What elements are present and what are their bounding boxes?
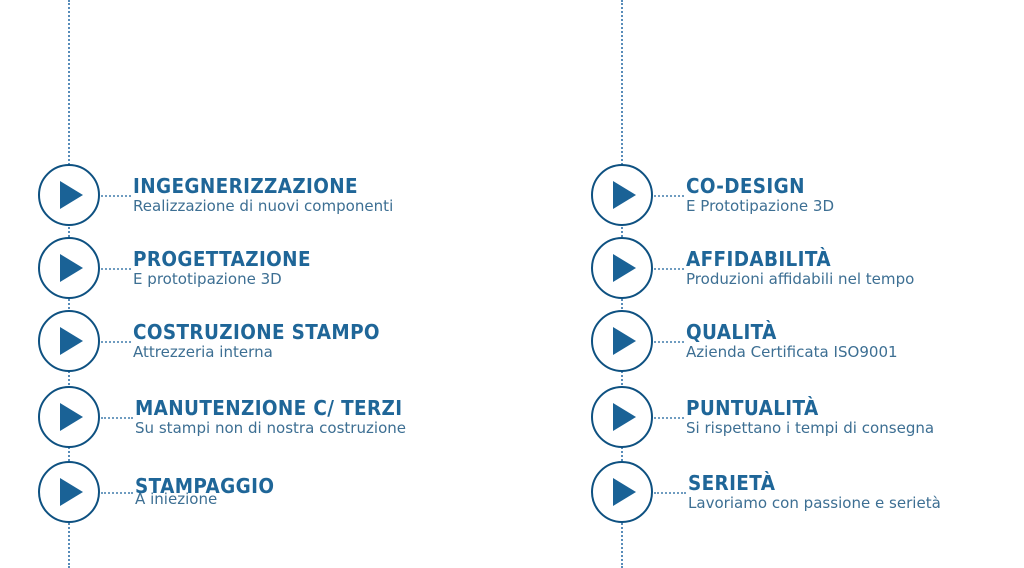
list-item-labels: INGEGNERIZZAZIONERealizzazione di nuovi … bbox=[133, 164, 401, 226]
play-triangle-icon bbox=[613, 478, 636, 506]
list-item-subtitle: Azienda Certificata ISO9001 bbox=[686, 344, 898, 360]
play-circle-icon[interactable] bbox=[38, 386, 100, 448]
play-circle-icon[interactable] bbox=[591, 164, 653, 226]
list-item-title: COSTRUZIONE STAMPO bbox=[133, 322, 380, 342]
play-triangle-icon bbox=[60, 403, 83, 431]
services-column: INGEGNERIZZAZIONERealizzazione di nuovi … bbox=[0, 0, 512, 568]
list-item-subtitle: E prototipazione 3D bbox=[133, 271, 321, 287]
list-item-labels: SERIETÀLavoriamo con passione e serietà bbox=[688, 461, 949, 523]
play-triangle-icon bbox=[613, 403, 636, 431]
list-item-labels: COSTRUZIONE STAMPOAttrezzeria interna bbox=[133, 310, 401, 372]
dotted-connector bbox=[101, 195, 131, 197]
list-item-title: CO-DESIGN bbox=[686, 176, 826, 196]
play-triangle-icon bbox=[613, 327, 636, 355]
dotted-connector bbox=[101, 341, 131, 343]
dotted-connector bbox=[101, 417, 133, 419]
list-item-labels: STAMPAGGIOA iniezione bbox=[135, 461, 286, 523]
list-item-subtitle: A iniezione bbox=[135, 491, 282, 507]
play-triangle-icon bbox=[60, 327, 83, 355]
list-item-labels: CO-DESIGNE Prototipazione 3D bbox=[686, 164, 839, 226]
play-triangle-icon bbox=[613, 181, 636, 209]
list-item[interactable]: STAMPAGGIOA iniezione bbox=[0, 461, 512, 523]
list-item-subtitle: Si rispettano i tempi di consegna bbox=[686, 420, 934, 436]
list-item-subtitle: E Prototipazione 3D bbox=[686, 198, 834, 214]
list-item-subtitle: Su stampi non di nostra costruzione bbox=[135, 420, 417, 436]
list-item-subtitle: Produzioni affidabili nel tempo bbox=[686, 271, 914, 287]
dotted-connector bbox=[101, 268, 131, 270]
list-item[interactable]: PROGETTAZIONEE prototipazione 3D bbox=[0, 237, 512, 299]
play-circle-icon[interactable] bbox=[38, 461, 100, 523]
list-item-title: QUALITÀ bbox=[686, 322, 887, 342]
list-item-title: MANUTENZIONE C/ TERZI bbox=[135, 398, 402, 418]
dotted-connector bbox=[101, 492, 133, 494]
list-item[interactable]: CO-DESIGNE Prototipazione 3D bbox=[553, 164, 1024, 226]
list-item-labels: PUNTUALITÀSi rispettano i tempi di conse… bbox=[686, 386, 942, 448]
list-item-title: AFFIDABILITÀ bbox=[686, 249, 903, 269]
dotted-connector bbox=[654, 195, 684, 197]
list-item[interactable]: COSTRUZIONE STAMPOAttrezzeria interna bbox=[0, 310, 512, 372]
play-triangle-icon bbox=[60, 478, 83, 506]
play-circle-icon[interactable] bbox=[591, 237, 653, 299]
list-item[interactable]: QUALITÀAzienda Certificata ISO9001 bbox=[553, 310, 1024, 372]
dotted-connector bbox=[654, 268, 684, 270]
list-item-title: SERIETÀ bbox=[688, 473, 928, 493]
list-item-title: PROGETTAZIONE bbox=[133, 249, 311, 269]
list-item[interactable]: INGEGNERIZZAZIONERealizzazione di nuovi … bbox=[0, 164, 512, 226]
list-item[interactable]: SERIETÀLavoriamo con passione e serietà bbox=[553, 461, 1024, 523]
play-circle-icon[interactable] bbox=[38, 310, 100, 372]
play-triangle-icon bbox=[613, 254, 636, 282]
list-item-subtitle: Attrezzeria interna bbox=[133, 344, 393, 360]
list-item[interactable]: PUNTUALITÀSi rispettano i tempi di conse… bbox=[553, 386, 1024, 448]
play-circle-icon[interactable] bbox=[38, 164, 100, 226]
list-item-title: INGEGNERIZZAZIONE bbox=[133, 176, 380, 196]
play-circle-icon[interactable] bbox=[591, 461, 653, 523]
list-item-labels: AFFIDABILITÀProduzioni affidabili nel te… bbox=[686, 237, 921, 299]
list-item-labels: PROGETTAZIONEE prototipazione 3D bbox=[133, 237, 326, 299]
list-item[interactable]: MANUTENZIONE C/ TERZISu stampi non di no… bbox=[0, 386, 512, 448]
play-circle-icon[interactable] bbox=[591, 310, 653, 372]
play-triangle-icon bbox=[60, 254, 83, 282]
dotted-connector bbox=[654, 417, 684, 419]
list-item-subtitle: Realizzazione di nuovi componenti bbox=[133, 198, 393, 214]
play-circle-icon[interactable] bbox=[591, 386, 653, 448]
dotted-connector bbox=[654, 341, 684, 343]
play-triangle-icon bbox=[60, 181, 83, 209]
values-column: CO-DESIGNE Prototipazione 3DAFFIDABILITÀ… bbox=[553, 0, 1024, 568]
list-item-labels: MANUTENZIONE C/ TERZISu stampi non di no… bbox=[135, 386, 426, 448]
list-item[interactable]: AFFIDABILITÀProduzioni affidabili nel te… bbox=[553, 237, 1024, 299]
list-item-subtitle: Lavoriamo con passione e serietà bbox=[688, 495, 941, 511]
list-item-title: PUNTUALITÀ bbox=[686, 398, 921, 418]
dotted-connector bbox=[654, 492, 686, 494]
play-circle-icon[interactable] bbox=[38, 237, 100, 299]
list-item-labels: QUALITÀAzienda Certificata ISO9001 bbox=[686, 310, 904, 372]
